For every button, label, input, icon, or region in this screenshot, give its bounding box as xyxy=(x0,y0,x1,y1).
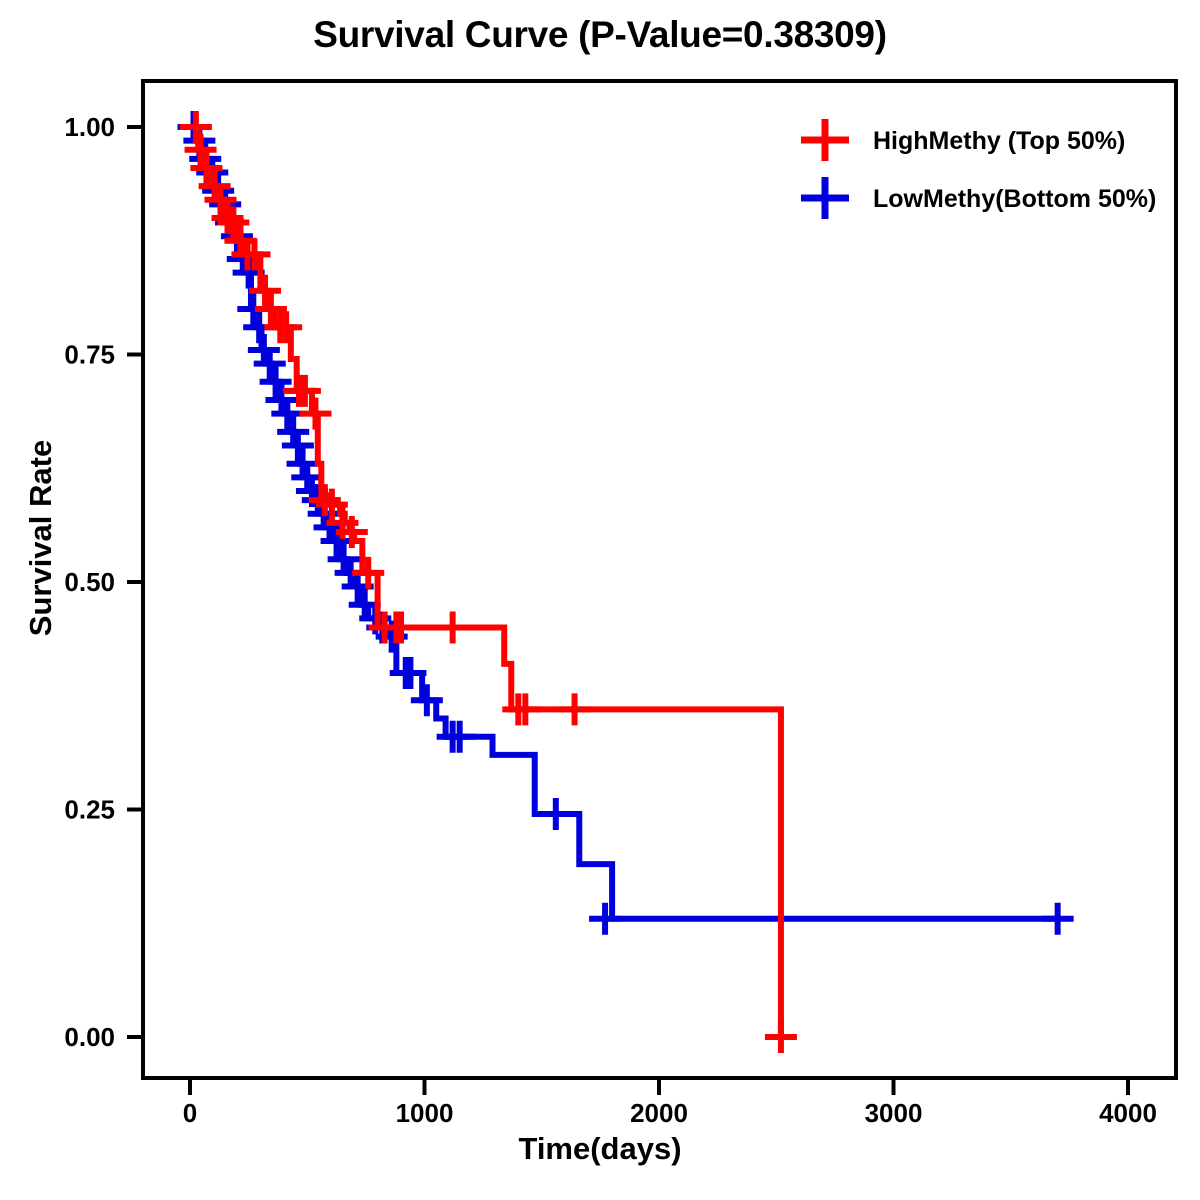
y-tick-label: 0.50 xyxy=(64,567,115,597)
legend-label: LowMethy(Bottom 50%) xyxy=(873,185,1156,213)
plot-frame xyxy=(143,81,1176,1078)
x-tick-label: 2000 xyxy=(630,1098,688,1128)
y-tick-label: 0.75 xyxy=(64,340,115,370)
step-line xyxy=(190,127,781,1037)
series-high-methy xyxy=(180,111,797,1053)
chart-legend: HighMethy (Top 50%)LowMethy(Bottom 50%) xyxy=(801,119,1156,219)
y-tick-label: 1.00 xyxy=(64,112,115,142)
series-layer xyxy=(178,111,1074,1053)
step-line xyxy=(190,127,1058,919)
x-tick-label: 0 xyxy=(183,1098,197,1128)
series-low-methy xyxy=(178,111,1074,935)
y-axis-ticks: 0.000.250.500.751.00 xyxy=(64,112,143,1052)
plot-area: 0.000.250.500.751.00 01000200030004000 H… xyxy=(0,0,1200,1200)
legend-label: HighMethy (Top 50%) xyxy=(873,127,1125,155)
y-tick-label: 0.00 xyxy=(64,1022,115,1052)
y-tick-label: 0.25 xyxy=(64,795,115,825)
x-tick-label: 1000 xyxy=(396,1098,454,1128)
x-tick-label: 4000 xyxy=(1099,1098,1157,1128)
x-tick-label: 3000 xyxy=(865,1098,923,1128)
x-axis-ticks: 01000200030004000 xyxy=(183,1078,1157,1128)
survival-curve-figure: Survival Curve (P-Value=0.38309) Surviva… xyxy=(0,0,1200,1200)
